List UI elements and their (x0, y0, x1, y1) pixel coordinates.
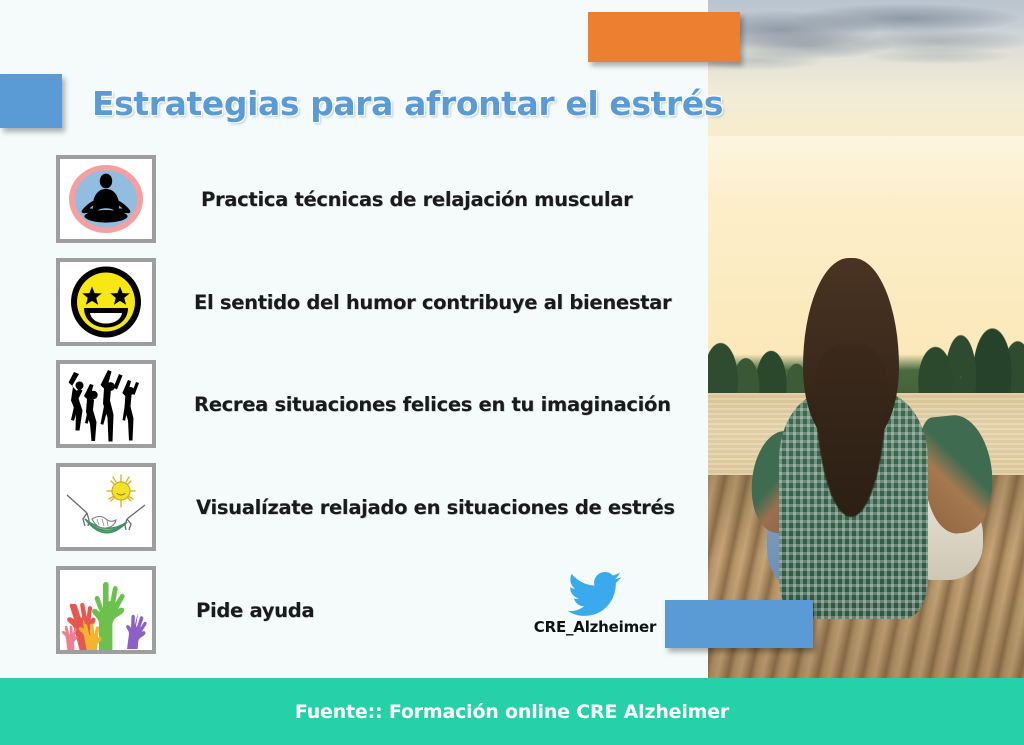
background-photo (708, 0, 1024, 678)
decor-block-blue-top-left (0, 74, 62, 128)
celebrating-people-silhouette-icon (56, 360, 156, 448)
twitter-bird-icon[interactable] (568, 572, 622, 616)
strategy-row: El sentido del humor contribuye al biene… (56, 258, 671, 346)
hammock-sun-icon (56, 463, 156, 551)
photo-person (752, 258, 992, 651)
strategy-label: Pide ayuda (196, 599, 314, 622)
decor-block-blue-bottom-right (665, 600, 813, 648)
footer-source-text: Fuente:: Formación online CRE Alzheimer (295, 701, 729, 723)
footer-bar: Fuente:: Formación online CRE Alzheimer (0, 678, 1024, 745)
strategy-row: Pide ayuda (56, 566, 314, 654)
strategy-row: Recrea situaciones felices en tu imagina… (56, 360, 671, 448)
strategy-row: Visualízate relajado en situaciones de e… (56, 463, 675, 551)
decor-block-orange (588, 12, 740, 62)
smiley-star-eyes-icon (56, 258, 156, 346)
photo-cloud (796, 4, 1017, 33)
photo-cloud (866, 48, 1011, 64)
strategy-label: El sentido del humor contribuye al biene… (194, 291, 671, 314)
strategy-label: Practica técnicas de relajación muscular (201, 188, 632, 211)
page-title: Estrategias para afrontar el estrés (92, 84, 723, 123)
slide-canvas: Estrategias para afrontar el estrés Pr (0, 0, 1024, 745)
twitter-handle-label: CRE_Alzheimer (525, 618, 665, 636)
strategy-row: Practica técnicas de relajación muscular (56, 155, 632, 243)
social-handle-group[interactable]: CRE_Alzheimer (525, 572, 665, 636)
raised-hands-icon (56, 566, 156, 654)
meditation-lotus-icon (56, 155, 156, 243)
strategy-label: Recrea situaciones felices en tu imagina… (194, 393, 671, 416)
strategy-label: Visualízate relajado en situaciones de e… (196, 496, 675, 519)
